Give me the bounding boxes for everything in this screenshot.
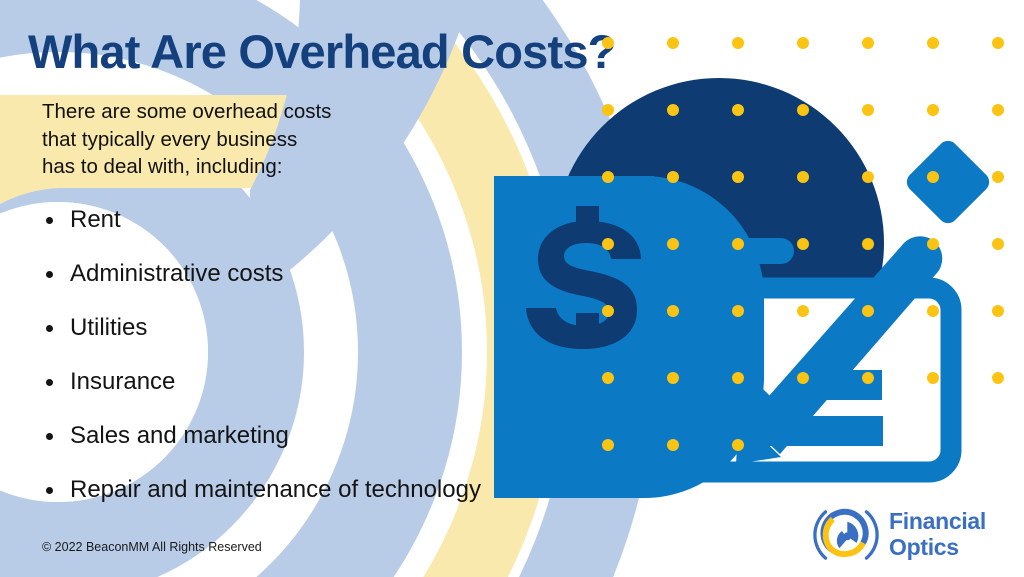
- list-item-label: Utilities: [70, 314, 147, 341]
- list-item: Insurance: [44, 370, 704, 394]
- copyright-notice: © 2022 BeaconMM All Rights Reserved: [42, 540, 262, 554]
- list-item: Sales and marketing: [44, 424, 704, 448]
- bullet-dot-icon: [46, 433, 53, 440]
- page-title: What Are Overhead Costs?: [28, 27, 498, 76]
- list-item-label: Repair and maintenance of technology: [70, 476, 481, 503]
- card-stripe-icon: [689, 238, 794, 264]
- pen-cap-icon: [903, 137, 994, 228]
- list-item: Rent: [44, 208, 704, 232]
- list-item: Utilities: [44, 316, 704, 340]
- list-item-label: Administrative costs: [70, 260, 283, 287]
- infographic-canvas: What Are Overhead Costs? There are some …: [0, 0, 1024, 577]
- intro-line-3: has to deal with, including:: [42, 153, 435, 181]
- aperture-lens-icon: [812, 502, 880, 568]
- list-item: Administrative costs: [44, 262, 704, 286]
- list-item-label: Sales and marketing: [70, 422, 289, 449]
- intro-paragraph: There are some overhead costs that typic…: [42, 98, 435, 181]
- intro-line-1: There are some overhead costs: [42, 98, 435, 126]
- logo-line-1: Financial: [889, 509, 986, 535]
- financial-optics-logo: Financial Optics: [812, 500, 1012, 570]
- list-item-label: Rent: [70, 206, 121, 233]
- bullet-dot-icon: [46, 379, 53, 386]
- intro-line-2: that typically every business: [42, 126, 435, 154]
- bullet-dot-icon: [46, 487, 53, 494]
- bullet-dot-icon: [46, 271, 53, 278]
- list-item-label: Insurance: [70, 368, 175, 395]
- text-column: What Are Overhead Costs? There are some …: [0, 0, 500, 577]
- logo-line-2: Optics: [889, 535, 986, 561]
- list-item: Repair and maintenance of technology: [44, 478, 704, 502]
- logo-wordmark: Financial Optics: [889, 509, 986, 561]
- overhead-cost-list: Rent Administrative costs Utilities Insu…: [44, 208, 704, 532]
- bullet-dot-icon: [46, 217, 53, 224]
- bullet-dot-icon: [46, 325, 53, 332]
